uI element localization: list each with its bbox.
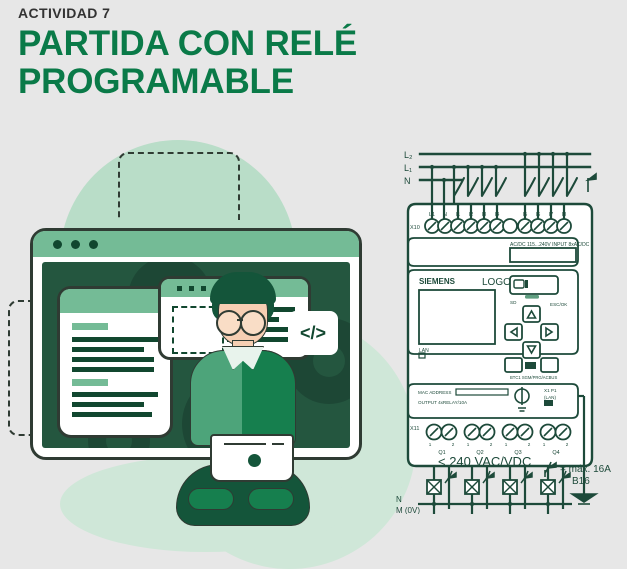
window-dot-icon xyxy=(53,240,62,249)
mobile-card-titlebar xyxy=(60,289,170,313)
slot-label: SD xyxy=(510,300,517,305)
shoe-shape xyxy=(248,488,294,510)
neutral-label-m: M (0V) xyxy=(396,506,420,514)
brand-label: SIEMENS xyxy=(419,277,456,286)
down-button xyxy=(523,342,540,358)
svg-text:1: 1 xyxy=(467,442,470,447)
output-rating-label: OUTPUT 4xRELAY/10A xyxy=(418,400,468,405)
desktop-screen-titlebar xyxy=(33,231,359,257)
poster-page: ACTIVIDAD 7 PARTIDA CON RELÉ PROGRAMABLE xyxy=(0,0,627,567)
relay-wiring-diagram: L₂ L₁ N xyxy=(392,134,627,514)
right-badge-1: X1 P1 xyxy=(544,388,557,393)
page-title-line-1: PARTIDA CON RELÉ xyxy=(18,25,438,63)
glasses-bridge xyxy=(237,319,243,321)
right-badge-2: (LAN) xyxy=(544,395,556,400)
mobile-document-card xyxy=(57,286,173,438)
page-title-line-2: PROGRAMABLE xyxy=(18,63,438,101)
supply-label-n: N xyxy=(404,176,411,186)
glasses-icon xyxy=(216,310,242,336)
supply-label-l1: L₁ xyxy=(404,163,412,173)
mac-label: MAC ADDRESS xyxy=(418,390,451,395)
dashed-connector-top xyxy=(118,152,240,220)
svg-text:1: 1 xyxy=(505,442,508,447)
svg-text:1: 1 xyxy=(429,442,432,447)
bracket-note: < 240 VAC/VDC xyxy=(438,454,531,469)
right-button xyxy=(541,324,558,340)
bottom-port-label: BTC1 SGM/PRG/ACBUS xyxy=(510,375,557,380)
left-button xyxy=(505,324,522,340)
model-label: LOGO! xyxy=(482,277,514,288)
svg-text:2: 2 xyxy=(528,442,531,447)
fuse-note-line-2: B16 xyxy=(572,476,611,488)
svg-text:2: 2 xyxy=(566,442,569,447)
window-dot-icon xyxy=(89,240,98,249)
slot-indicator xyxy=(525,295,539,299)
svg-text:1: 1 xyxy=(543,442,546,447)
fuse-note: = máx. 16A B16 xyxy=(560,464,611,488)
lcd-display xyxy=(419,290,495,344)
svg-text:2: 2 xyxy=(452,442,455,447)
page-header: ACTIVIDAD 7 PARTIDA CON RELÉ PROGRAMABLE xyxy=(18,4,438,101)
neutral-label-n: N xyxy=(396,495,402,504)
input-connector-label: X10 xyxy=(410,225,420,231)
supply-label-l2: L₂ xyxy=(404,150,413,160)
svg-text:2: 2 xyxy=(490,442,493,447)
page-title: PARTIDA CON RELÉ PROGRAMABLE xyxy=(18,25,438,101)
input-rating-label: AC/DC 115...240V INPUT 8xAC/DC xyxy=(510,242,590,248)
output-connector-label: X11 xyxy=(410,426,419,432)
shoe-shape xyxy=(188,488,234,510)
code-badge: </> xyxy=(288,311,338,355)
port-icon xyxy=(525,362,536,369)
keypad-label: ESC/OK xyxy=(550,302,568,307)
activity-kicker: ACTIVIDAD 7 xyxy=(18,4,438,22)
up-button xyxy=(523,306,540,322)
fuse-note-line-1: = máx. 16A xyxy=(560,464,611,476)
glasses-icon xyxy=(240,310,266,336)
hair-front-shape xyxy=(210,272,276,304)
developer-illustration: </> xyxy=(0,126,392,567)
window-dot-icon xyxy=(71,240,80,249)
laptop-icon xyxy=(210,434,294,482)
svg-text:Q4: Q4 xyxy=(552,450,559,456)
